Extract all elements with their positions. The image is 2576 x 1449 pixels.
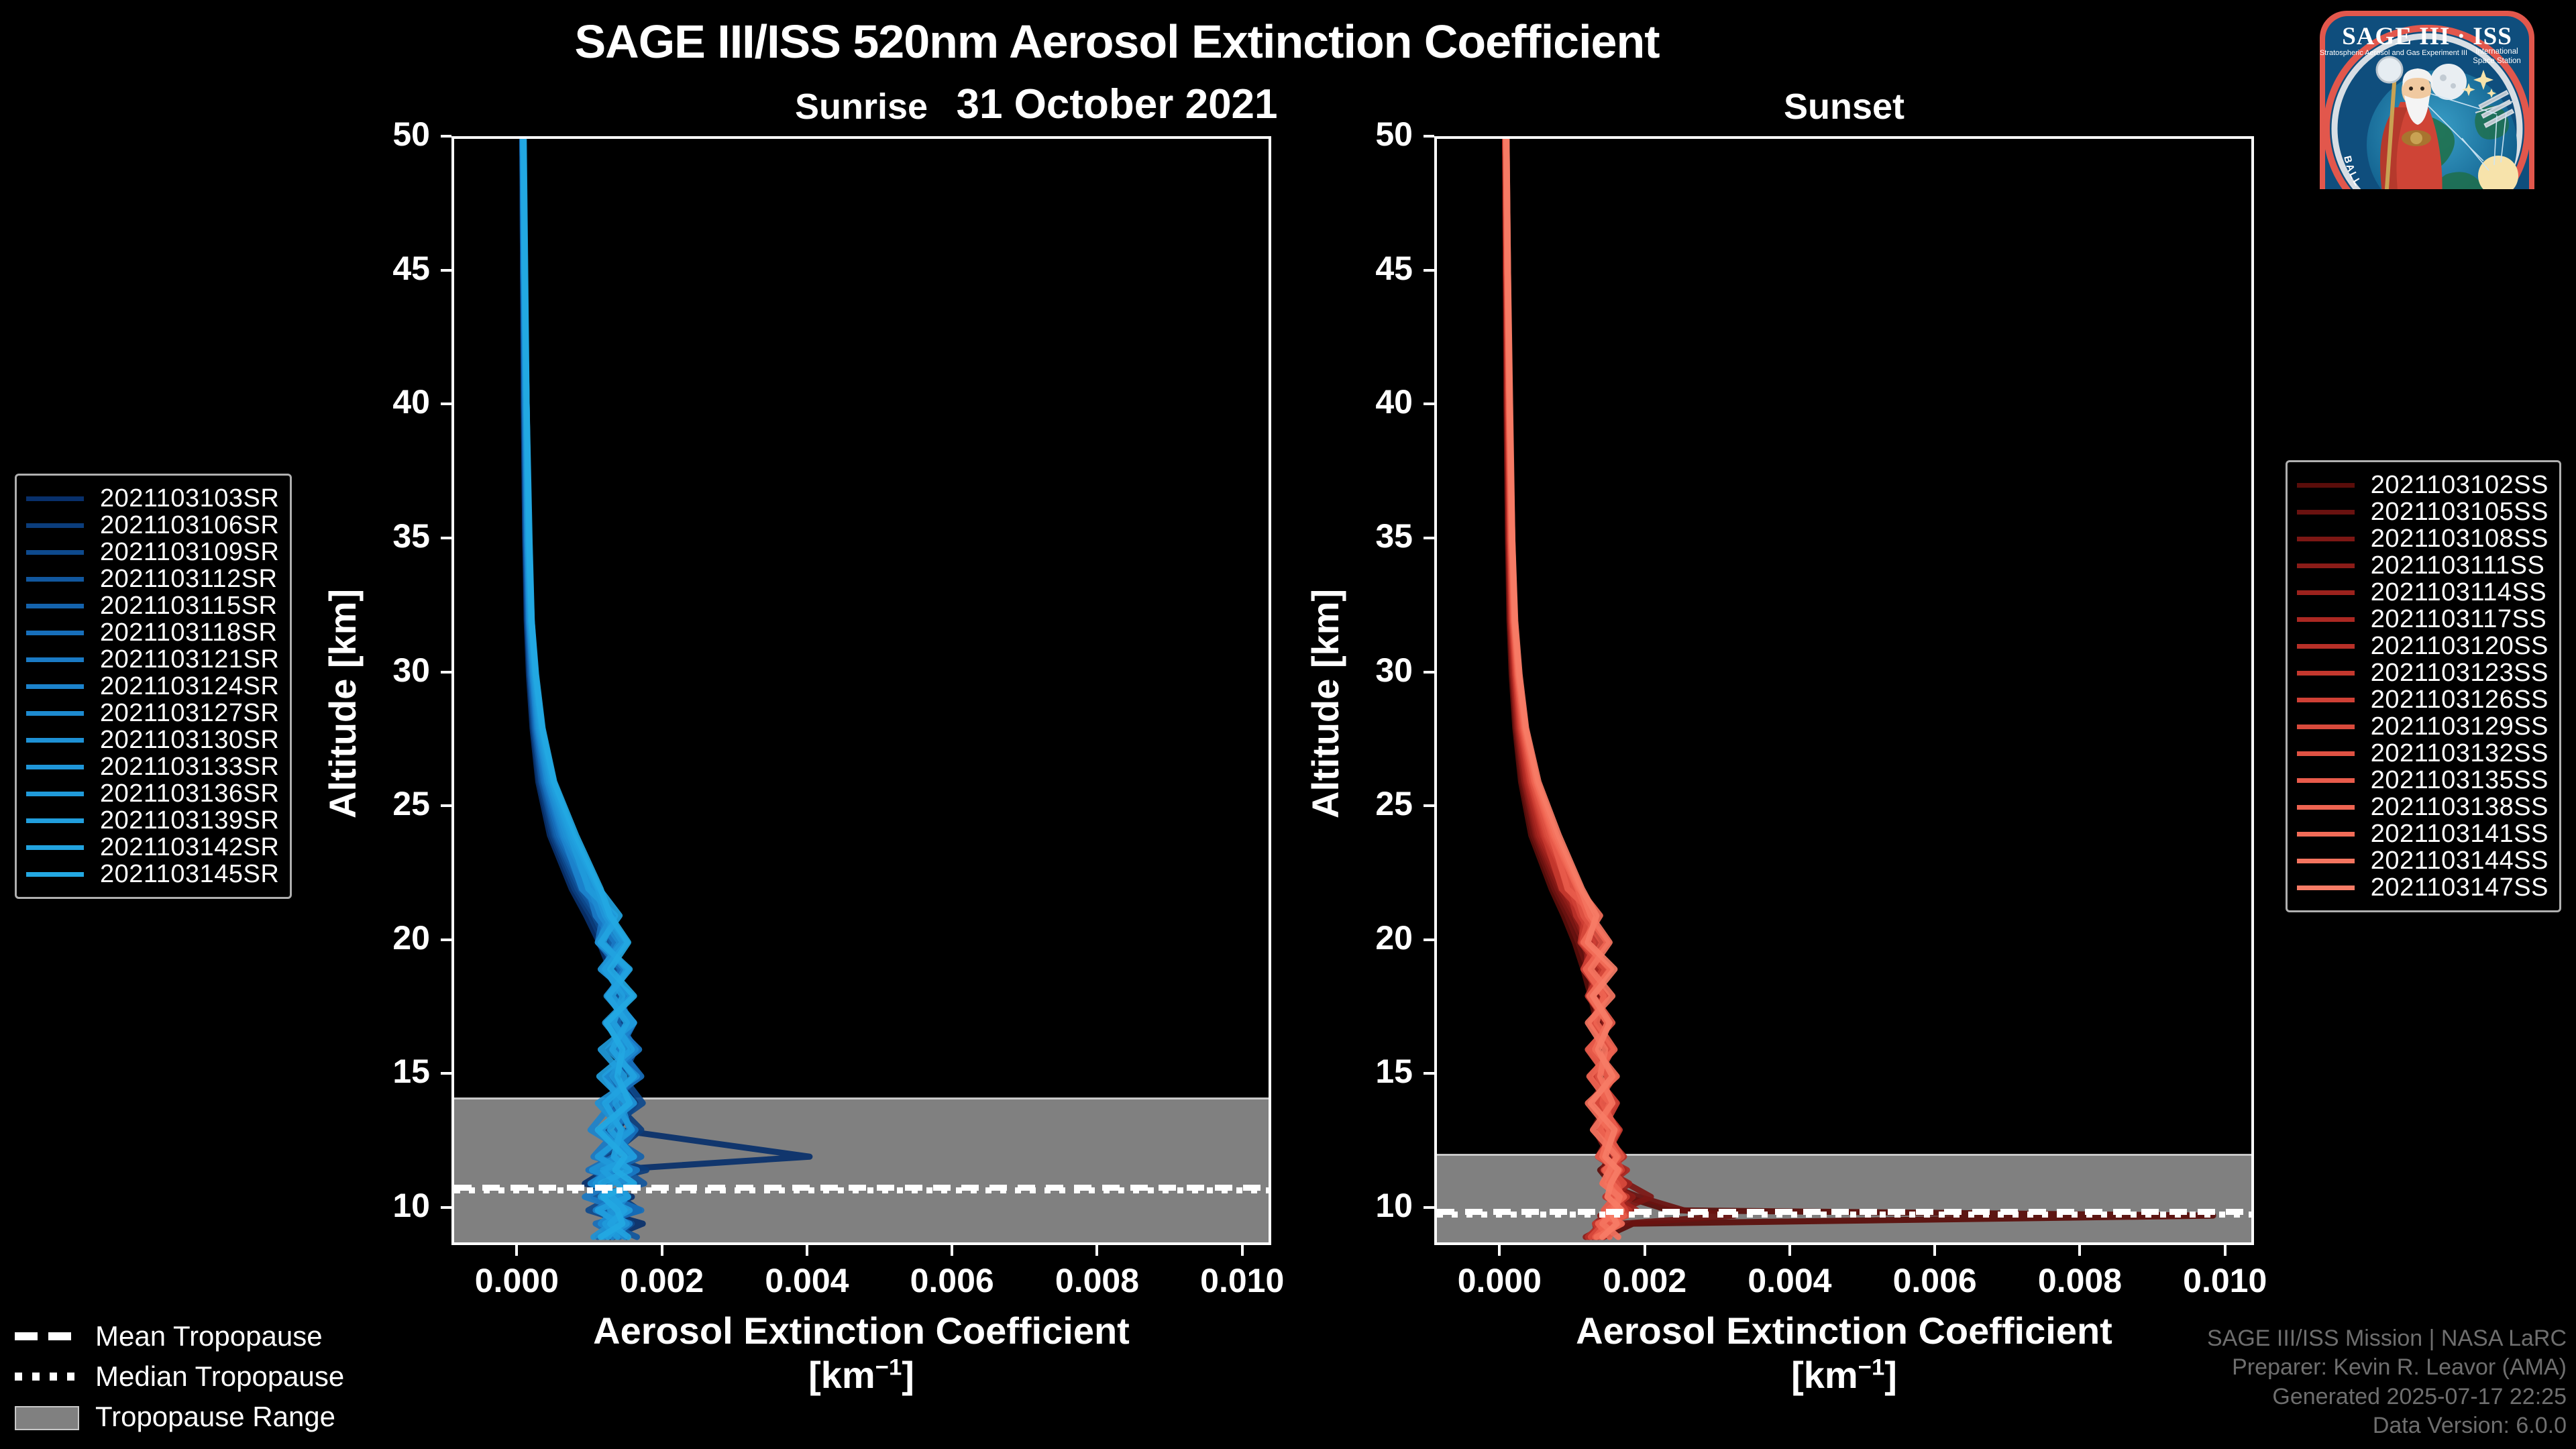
x-axis-unit: [km−1]: [451, 1353, 1271, 1397]
series-line: [523, 139, 810, 1237]
legend-label: 2021103118SR: [100, 619, 278, 647]
legend-item[interactable]: 2021103114SS: [2297, 579, 2548, 606]
series-lines: [454, 139, 1269, 1242]
legend-color-swatch: [2297, 698, 2355, 702]
legend-item[interactable]: 2021103141SS: [2297, 820, 2548, 847]
x-axis-tick-label: 0.000: [443, 1261, 590, 1300]
y-axis-tick-label: 30: [351, 651, 430, 690]
legend-label: 2021103105SS: [2371, 498, 2548, 527]
legend-color-swatch: [2297, 537, 2355, 541]
legend-label: 2021103147SS: [2371, 873, 2548, 902]
legend-item[interactable]: 2021103106SR: [26, 512, 279, 539]
page-title: SAGE III/ISS 520nm Aerosol Extinction Co…: [0, 15, 2234, 68]
legend-label: 2021103138SS: [2371, 793, 2548, 822]
legend-label: 2021103114SS: [2371, 578, 2546, 607]
y-axis-label-sunrise: Altitude [km]: [321, 588, 364, 818]
y-axis-tick-label: 40: [351, 382, 430, 421]
x-axis-tick: [2078, 1245, 2081, 1256]
x-axis-tick: [1498, 1245, 1501, 1256]
legend-item[interactable]: 2021103103SR: [26, 485, 279, 512]
legend-item[interactable]: 2021103144SS: [2297, 847, 2548, 874]
y-axis-tick-label: 10: [351, 1186, 430, 1225]
legend-item[interactable]: 2021103147SS: [2297, 874, 2548, 901]
x-axis-tick: [515, 1245, 518, 1256]
legend-item-tropopause-range: Tropopause Range: [15, 1397, 344, 1437]
legend-item[interactable]: 2021103142SR: [26, 834, 279, 861]
legend-color-swatch: [2297, 563, 2355, 568]
x-axis-tick: [2224, 1245, 2226, 1256]
x-axis-tick-label: 0.000: [1426, 1261, 1573, 1300]
legend-label: 2021103109SR: [100, 538, 279, 567]
x-axis-tick-label: 0.004: [1716, 1261, 1864, 1300]
y-axis-tick: [441, 938, 451, 941]
y-axis-tick: [1424, 1072, 1434, 1075]
x-axis-tick: [1644, 1245, 1646, 1256]
legend-label: 2021103120SS: [2371, 632, 2548, 661]
y-axis-tick: [441, 671, 451, 674]
credits-block: SAGE III/ISS Mission | NASA LaRC Prepare…: [2207, 1324, 2567, 1441]
legend-label: 2021103103SR: [100, 484, 279, 513]
y-axis-tick: [1424, 135, 1434, 138]
x-axis-tick: [1788, 1245, 1791, 1256]
legend-color-swatch: [26, 818, 84, 823]
legend-color-swatch: [2297, 724, 2355, 729]
legend-color-swatch: [2297, 590, 2355, 595]
sunset-plot: [1434, 136, 2254, 1245]
y-axis-tick: [441, 269, 451, 272]
legend-color-swatch: [2297, 644, 2355, 649]
legend-label: 2021103108SS: [2371, 525, 2548, 553]
legend-label: 2021103121SR: [100, 645, 279, 674]
y-axis-tick-label: 50: [1334, 115, 1413, 154]
legend-color-swatch: [26, 577, 84, 582]
series-line: [1505, 139, 1651, 1237]
legend-color-swatch: [26, 550, 84, 555]
x-axis-tick-label: 0.008: [2006, 1261, 2153, 1300]
legend-item[interactable]: 2021103121SR: [26, 646, 279, 673]
y-axis-tick-label: 10: [1334, 1186, 1413, 1225]
legend-color-swatch: [2297, 805, 2355, 810]
tropopause-legend: Mean Tropopause Median Tropopause Tropop…: [15, 1316, 344, 1437]
legend-color-swatch: [26, 711, 84, 716]
x-axis-label-sunset: Aerosol Extinction Coefficient [km−1]: [1434, 1309, 2254, 1397]
y-axis-tick-label: 45: [351, 249, 430, 288]
y-axis-tick: [1424, 1206, 1434, 1209]
legend-label: 2021103130SR: [100, 726, 279, 755]
sunrise-series-legend[interactable]: 2021103103SR2021103106SR2021103109SR2021…: [15, 474, 292, 899]
legend-item[interactable]: 2021103129SS: [2297, 713, 2548, 740]
legend-label: 2021103117SS: [2371, 605, 2546, 634]
legend-label: 2021103135SS: [2371, 766, 2548, 795]
legend-label: 2021103126SS: [2371, 686, 2548, 714]
legend-item[interactable]: 2021103133SR: [26, 753, 279, 780]
y-axis-tick-label: 20: [351, 918, 430, 957]
panel-title-sunset: Sunset: [1434, 86, 2254, 127]
y-axis-tick: [1424, 402, 1434, 405]
legend-label: 2021103141SS: [2371, 820, 2548, 849]
y-axis-tick-label: 30: [1334, 651, 1413, 690]
legend-label: 2021103144SS: [2371, 847, 2548, 875]
y-axis-tick-label: 50: [351, 115, 430, 154]
legend-item[interactable]: 2021103112SR: [26, 566, 279, 592]
sunset-series-legend[interactable]: 2021103102SS2021103105SS2021103108SS2021…: [2286, 460, 2561, 912]
legend-color-swatch: [26, 872, 84, 877]
mean-tropopause-line: [454, 1185, 1269, 1191]
legend-item[interactable]: 2021103124SR: [26, 673, 279, 700]
legend-item[interactable]: 2021103109SR: [26, 539, 279, 566]
legend-color-swatch: [26, 604, 84, 608]
legend-label: Mean Tropopause: [95, 1320, 323, 1352]
legend-color-swatch: [2297, 751, 2355, 756]
legend-item[interactable]: 2021103108SS: [2297, 525, 2548, 552]
legend-item[interactable]: 2021103111SS: [2297, 552, 2548, 579]
legend-label: 2021103132SS: [2371, 739, 2548, 768]
series-lines: [1437, 139, 2251, 1242]
x-axis-tick: [951, 1245, 953, 1256]
legend-color-swatch: [26, 684, 84, 689]
x-axis-label-sunrise: Aerosol Extinction Coefficient [km−1]: [451, 1309, 1271, 1397]
y-axis-tick-label: 20: [1334, 918, 1413, 957]
legend-item[interactable]: 2021103138SS: [2297, 794, 2548, 820]
svg-text:SAGE III · ISS: SAGE III · ISS: [2342, 23, 2512, 50]
series-line: [524, 139, 634, 1237]
median-tropopause-icon: [15, 1368, 79, 1385]
legend-label: 2021103124SR: [100, 672, 279, 701]
legend-label: 2021103142SR: [100, 833, 279, 862]
mean-tropopause-icon: [15, 1328, 79, 1344]
x-axis-tick-label: 0.010: [1169, 1261, 1316, 1300]
y-axis-tick-label: 25: [1334, 784, 1413, 823]
legend-item[interactable]: 2021103130SR: [26, 727, 279, 753]
y-axis-tick-label: 15: [1334, 1052, 1413, 1091]
x-axis-label-text: Aerosol Extinction Coefficient: [593, 1309, 1130, 1352]
x-axis-label-text: Aerosol Extinction Coefficient: [1576, 1309, 2112, 1352]
legend-label: Tropopause Range: [95, 1401, 335, 1433]
y-axis-tick-label: 15: [351, 1052, 430, 1091]
legend-label: 2021103112SR: [100, 565, 278, 594]
legend-color-swatch: [26, 657, 84, 662]
legend-label: 2021103102SS: [2371, 471, 2548, 500]
y-axis-tick-label: 40: [1334, 382, 1413, 421]
svg-text:Space Station: Space Station: [2473, 57, 2521, 65]
legend-label: 2021103136SR: [100, 780, 279, 808]
legend-color-swatch: [2297, 832, 2355, 837]
svg-text:Stratospheric Aerosol and Gas: Stratospheric Aerosol and Gas Experiment…: [2320, 49, 2467, 57]
svg-text:International: International: [2475, 48, 2518, 56]
legend-color-swatch: [2297, 778, 2355, 783]
mean-tropopause-line: [1437, 1209, 2251, 1215]
y-axis-tick-label: 25: [351, 784, 430, 823]
sunrise-plot: [451, 136, 1271, 1245]
y-axis-label-sunset: Altitude [km]: [1303, 588, 1347, 818]
legend-item[interactable]: 2021103126SS: [2297, 686, 2548, 713]
legend-color-swatch: [2297, 617, 2355, 622]
panel-title-sunrise: Sunrise: [451, 86, 1271, 127]
legend-item[interactable]: 2021103102SS: [2297, 472, 2548, 498]
tropopause-range-icon: [15, 1409, 79, 1425]
x-axis-tick: [1095, 1245, 1098, 1256]
legend-item[interactable]: 2021103120SS: [2297, 633, 2548, 659]
legend-label: 2021103139SR: [100, 806, 279, 835]
legend-label: 2021103127SR: [100, 699, 279, 728]
legend-label: Median Tropopause: [95, 1360, 344, 1393]
credits-line-preparer: Preparer: Kevin R. Leavor (AMA): [2207, 1353, 2567, 1383]
x-axis-tick: [806, 1245, 808, 1256]
legend-color-swatch: [2297, 483, 2355, 488]
legend-label: 2021103115SR: [100, 592, 278, 621]
y-axis-tick: [1424, 671, 1434, 674]
y-axis-tick: [1424, 537, 1434, 539]
legend-item[interactable]: 2021103105SS: [2297, 498, 2548, 525]
legend-item-median-tropopause: Median Tropopause: [15, 1356, 344, 1397]
legend-item[interactable]: 2021103139SR: [26, 807, 279, 834]
legend-item[interactable]: 2021103123SS: [2297, 659, 2548, 686]
x-axis-tick-label: 0.008: [1023, 1261, 1171, 1300]
sage3-iss-mission-patch-logo: BALL · NASA · TAS-I · ESA SAGE III · ISS…: [2282, 7, 2571, 189]
legend-item-mean-tropopause: Mean Tropopause: [15, 1316, 344, 1356]
legend-label: 2021103145SR: [100, 860, 279, 889]
x-axis-tick-label: 0.002: [1571, 1261, 1719, 1300]
legend-color-swatch: [26, 765, 84, 769]
y-axis-tick: [1424, 269, 1434, 272]
x-axis-tick-label: 0.002: [588, 1261, 736, 1300]
legend-color-swatch: [26, 523, 84, 528]
credits-line-generated: Generated 2025-07-17 22:25: [2207, 1383, 2567, 1412]
y-axis-tick: [441, 537, 451, 539]
legend-label: 2021103111SS: [2371, 551, 2545, 580]
y-axis-tick: [441, 135, 451, 138]
x-axis-tick: [1933, 1245, 1936, 1256]
y-axis-tick: [1424, 938, 1434, 941]
legend-item[interactable]: 2021103127SR: [26, 700, 279, 727]
legend-label: 2021103133SR: [100, 753, 279, 782]
y-axis-tick-label: 35: [1334, 517, 1413, 555]
legend-item[interactable]: 2021103136SR: [26, 780, 279, 807]
series-line: [1505, 139, 1735, 1237]
x-axis-tick-label: 0.006: [878, 1261, 1026, 1300]
legend-color-swatch: [26, 496, 84, 501]
x-axis-tick-label: 0.010: [2151, 1261, 2299, 1300]
legend-label: 2021103123SS: [2371, 659, 2548, 688]
legend-label: 2021103129SS: [2371, 712, 2548, 741]
legend-item[interactable]: 2021103117SS: [2297, 606, 2548, 633]
legend-color-swatch: [26, 792, 84, 796]
legend-label: 2021103106SR: [100, 511, 279, 540]
legend-item[interactable]: 2021103118SR: [26, 619, 279, 646]
x-axis-tick-label: 0.004: [733, 1261, 881, 1300]
y-axis-tick: [441, 804, 451, 807]
legend-color-swatch: [2297, 671, 2355, 676]
x-axis-tick-label: 0.006: [1861, 1261, 2008, 1300]
x-axis-unit: [km−1]: [1434, 1353, 2254, 1397]
legend-item[interactable]: 2021103135SS: [2297, 767, 2548, 794]
legend-item[interactable]: 2021103132SS: [2297, 740, 2548, 767]
legend-color-swatch: [2297, 859, 2355, 863]
y-axis-tick-label: 35: [351, 517, 430, 555]
y-axis-tick: [441, 402, 451, 405]
legend-color-swatch: [26, 631, 84, 635]
legend-color-swatch: [26, 738, 84, 743]
y-axis-tick-label: 45: [1334, 249, 1413, 288]
legend-item[interactable]: 2021103145SR: [26, 861, 279, 888]
legend-color-swatch: [2297, 510, 2355, 515]
legend-item[interactable]: 2021103115SR: [26, 592, 279, 619]
x-axis-tick: [661, 1245, 663, 1256]
y-axis-tick: [441, 1206, 451, 1209]
x-axis-tick: [1241, 1245, 1244, 1256]
legend-color-swatch: [2297, 885, 2355, 890]
y-axis-tick: [1424, 804, 1434, 807]
y-axis-tick: [441, 1072, 451, 1075]
credits-line-mission: SAGE III/ISS Mission | NASA LaRC: [2207, 1324, 2567, 1354]
legend-color-swatch: [26, 845, 84, 850]
credits-line-version: Data Version: 6.0.0: [2207, 1411, 2567, 1441]
